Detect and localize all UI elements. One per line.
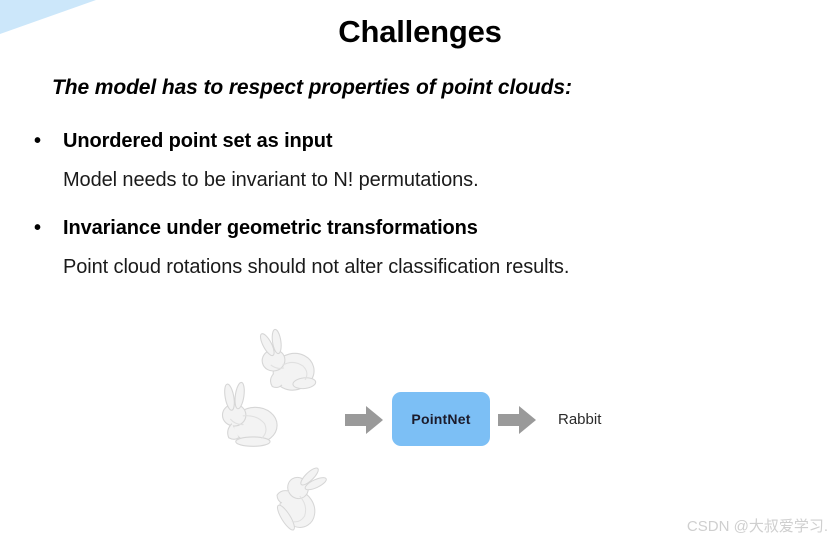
rabbit-mesh-icon — [256, 466, 344, 543]
right-arrow-icon — [345, 406, 383, 439]
bullet-heading-text: Unordered point set as input — [63, 130, 332, 152]
bullet-detail-text: Model needs to be invariant to N! permut… — [30, 168, 820, 193]
slide-canvas: Challenges The model has to respect prop… — [0, 0, 840, 544]
pointnet-label: PointNet — [411, 411, 470, 427]
rabbit-mesh-icon — [208, 380, 290, 463]
bullet-detail-text: Point cloud rotations should not alter c… — [30, 255, 820, 280]
output-class-label: Rabbit — [558, 411, 601, 428]
bullet-heading: • Invariance under geometric transformat… — [30, 215, 820, 241]
watermark: CSDN @大叔爱学习. — [687, 515, 828, 536]
bullet-heading-text: Invariance under geometric transformatio… — [63, 217, 478, 239]
page-title: Challenges — [0, 14, 840, 50]
bullet-item: • Invariance under geometric transformat… — [30, 215, 820, 280]
bullet-dot-icon: • — [34, 215, 41, 241]
bullet-item: • Unordered point set as input Model nee… — [30, 128, 820, 193]
right-arrow-icon — [498, 406, 536, 439]
bullet-dot-icon: • — [34, 128, 41, 154]
bullet-heading: • Unordered point set as input — [30, 128, 820, 154]
pointnet-model-box: PointNet — [392, 392, 490, 446]
slide-subtitle: The model has to respect properties of p… — [52, 76, 572, 100]
pointnet-pipeline-diagram: PointNet Rabbit — [190, 318, 650, 543]
